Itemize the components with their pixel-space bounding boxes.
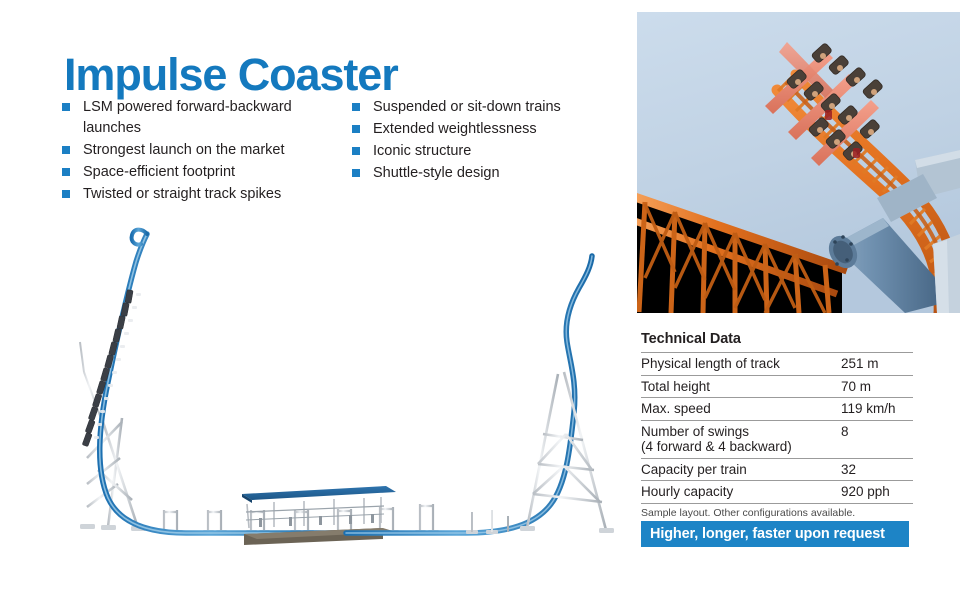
feature-label: LSM powered forward-backward launches <box>83 97 322 139</box>
tech-label: Total height <box>641 375 841 398</box>
coaster-layout-diagram <box>46 222 636 562</box>
left-spike-track <box>100 234 346 533</box>
bullet-square-icon <box>352 103 360 111</box>
right-column: Technical Data Physical length of track … <box>636 0 960 591</box>
bullet-square-icon <box>62 168 70 176</box>
coaster-photo-svg <box>637 12 960 313</box>
technical-data-heading: Technical Data <box>641 331 913 347</box>
table-row: Physical length of track 251 m <box>641 353 913 376</box>
list-item: Strongest launch on the market <box>62 140 322 161</box>
right-tower-structure <box>527 332 606 530</box>
tech-label: Max. speed <box>641 398 841 421</box>
feature-label: Strongest launch on the market <box>83 140 322 161</box>
callout-banner: Higher, longer, faster upon request <box>641 521 909 547</box>
table-row: Total height 70 m <box>641 375 913 398</box>
table-row: Hourly capacity 920 pph <box>641 481 913 503</box>
tech-label: Physical length of track <box>641 353 841 376</box>
tech-label-text: Capacity per train <box>641 462 747 477</box>
tech-value: 8 <box>841 420 913 458</box>
feature-label: Suspended or sit-down trains <box>373 97 622 118</box>
list-item: Suspended or sit-down trains <box>352 97 622 118</box>
feature-label: Iconic structure <box>373 141 622 162</box>
left-column: Impulse Coaster LSM powered forward-back… <box>0 0 636 591</box>
tech-sublabel-text: (4 forward & 4 backward) <box>641 439 841 455</box>
feature-label: Shuttle-style design <box>373 163 622 184</box>
tech-label: Hourly capacity <box>641 481 841 503</box>
tech-label-text: Total height <box>641 379 710 394</box>
feature-label: Extended weightlessness <box>373 119 622 140</box>
feature-label: Twisted or straight track spikes <box>83 184 322 205</box>
tech-value: 32 <box>841 458 913 481</box>
list-item: LSM powered forward-backward launches <box>62 97 322 139</box>
table-row: Capacity per train 32 <box>641 458 913 481</box>
coaster-layout-svg <box>46 222 636 562</box>
bullet-square-icon <box>352 147 360 155</box>
page-title: Impulse Coaster <box>64 52 398 97</box>
bullet-square-icon <box>62 103 70 111</box>
tech-value: 920 pph <box>841 481 913 503</box>
list-item: Iconic structure <box>352 141 622 162</box>
tech-value: 70 m <box>841 375 913 398</box>
tech-value: 119 km/h <box>841 398 913 421</box>
bullet-square-icon <box>62 190 70 198</box>
list-item: Shuttle-style design <box>352 163 622 184</box>
feature-list-left: LSM powered forward-backward launches St… <box>62 97 322 206</box>
left-tower-structure <box>87 418 138 528</box>
tech-label-text: Number of swings <box>641 424 749 439</box>
tech-value: 251 m <box>841 353 913 376</box>
feature-label: Space-efficient footprint <box>83 162 322 183</box>
left-spike-track-highlight <box>100 234 346 533</box>
bullet-square-icon <box>352 169 360 177</box>
list-item: Extended weightlessness <box>352 119 622 140</box>
technical-data-table: Physical length of track 251 m Total hei… <box>641 352 913 503</box>
tech-label-text: Max. speed <box>641 401 711 416</box>
table-row: Number of swings (4 forward & 4 backward… <box>641 420 913 458</box>
list-item: Space-efficient footprint <box>62 162 322 183</box>
tech-label: Capacity per train <box>641 458 841 481</box>
photo-slim-column <box>933 234 960 313</box>
coaster-photo <box>637 12 960 313</box>
list-item: Twisted or straight track spikes <box>62 184 322 205</box>
bullet-square-icon <box>62 146 70 154</box>
tech-label-text: Physical length of track <box>641 356 780 371</box>
table-row: Max. speed 119 km/h <box>641 398 913 421</box>
callout-banner-label: Higher, longer, faster upon request <box>650 526 885 542</box>
technical-data-footnote: Sample layout. Other configurations avai… <box>641 503 913 520</box>
technical-data-section: Technical Data Physical length of track … <box>641 331 913 520</box>
bullet-square-icon <box>352 125 360 133</box>
right-tower-footings <box>466 526 614 534</box>
tech-label-text: Hourly capacity <box>641 484 733 499</box>
tech-label: Number of swings (4 forward & 4 backward… <box>641 420 841 458</box>
feature-list-right: Suspended or sit-down trains Extended we… <box>352 97 622 185</box>
